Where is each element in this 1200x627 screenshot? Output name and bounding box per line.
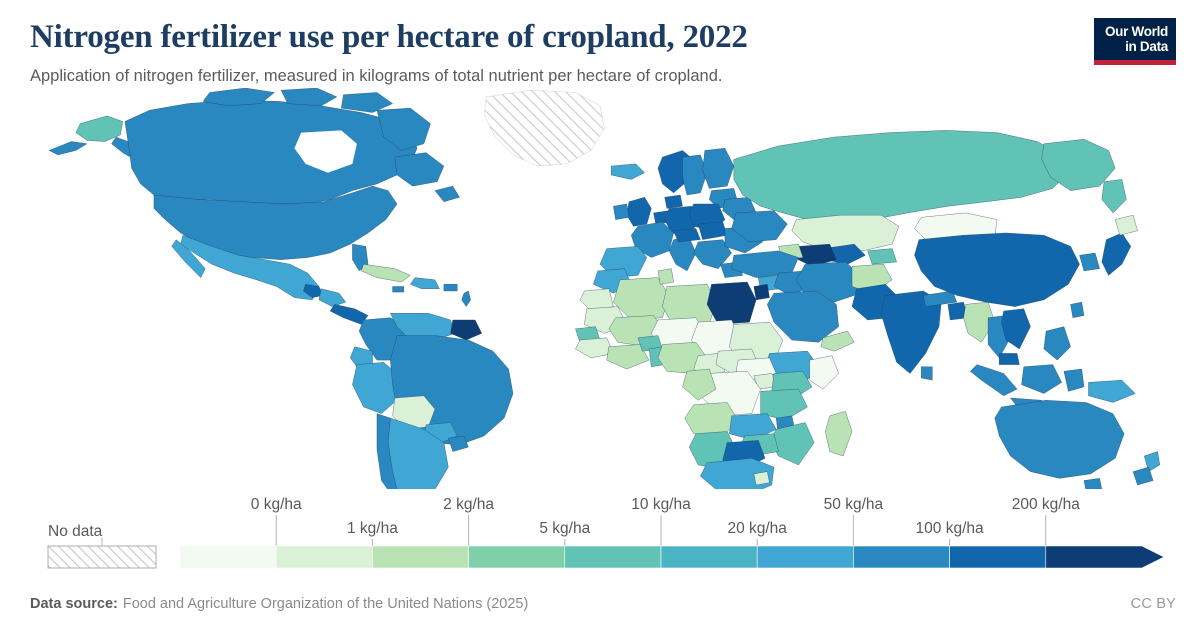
chart-header: Nitrogen fertilizer use per hectare of c…: [0, 0, 1200, 88]
legend-bin-4[interactable]: [565, 546, 661, 568]
country-aleutian-chain[interactable]: [49, 141, 87, 154]
country-japan[interactable]: [1102, 233, 1131, 275]
legend-tick-label-3: 5 kg/ha: [539, 520, 590, 537]
country-sri-lanka[interactable]: [921, 366, 932, 379]
legend-tick-label-4: 10 kg/ha: [631, 496, 691, 513]
legend-no-data-label: No data: [48, 523, 103, 540]
legend-tick-label-8: 200 kg/ha: [1012, 496, 1080, 513]
legend-bin-5[interactable]: [661, 546, 757, 568]
country-korea[interactable]: [1080, 253, 1100, 271]
country-hokkaido[interactable]: [1115, 215, 1137, 235]
country-russia[interactable]: [734, 130, 1069, 221]
country-lesotho[interactable]: [754, 471, 770, 484]
legend-tick-label-2: 2 kg/ha: [443, 496, 494, 513]
country-sweden[interactable]: [683, 154, 708, 194]
legend-tick-label-6: 50 kg/ha: [824, 496, 884, 513]
country-czechia-slovakia-hungary[interactable]: [698, 221, 727, 239]
legend-svg[interactable]: 0 kg/ha1 kg/ha2 kg/ha5 kg/ha10 kg/ha20 k…: [30, 489, 1176, 581]
country-taiwan[interactable]: [1071, 302, 1084, 318]
country-ireland[interactable]: [613, 204, 629, 220]
page-title: Nitrogen fertilizer use per hectare of c…: [30, 18, 1176, 56]
country-tasmania[interactable]: [1084, 478, 1102, 489]
country-costa-rica-panama[interactable]: [330, 304, 368, 324]
legend-bin-0[interactable]: [180, 546, 276, 568]
owid-logo-line2: in Data: [1102, 40, 1168, 55]
owid-chart-root: Nitrogen fertilizer use per hectare of c…: [0, 0, 1200, 627]
legend-tick-label-5: 20 kg/ha: [727, 520, 787, 537]
country-tunisia[interactable]: [658, 268, 674, 284]
data-source: Data source: Food and Agriculture Organi…: [30, 596, 528, 612]
country-honduras-nicaragua[interactable]: [319, 288, 346, 306]
legend-tick-label-1: 1 kg/ha: [347, 520, 398, 537]
data-source-value: Food and Agriculture Organization of the…: [123, 596, 528, 612]
data-source-label: Data source:: [30, 596, 118, 612]
chart-footer: Data source: Food and Agriculture Organi…: [0, 581, 1200, 627]
country-papua-new-guinea[interactable]: [1088, 380, 1135, 402]
legend-bin-group[interactable]: [180, 546, 1164, 568]
legend-bin-9[interactable]: [1046, 546, 1164, 568]
country-iceland[interactable]: [611, 163, 644, 179]
country-sulawesi[interactable]: [1064, 369, 1084, 391]
country-united-kingdom[interactable]: [627, 197, 652, 226]
country-madagascar[interactable]: [825, 411, 852, 456]
legend-bin-3[interactable]: [469, 546, 565, 568]
license-label[interactable]: CC BY: [1131, 596, 1176, 612]
country-cuba[interactable]: [361, 264, 410, 282]
owid-logo[interactable]: Our World in Data: [1094, 18, 1176, 65]
legend-tick-label-7: 100 kg/ha: [916, 520, 984, 537]
country-italy[interactable]: [669, 237, 696, 270]
country-australia[interactable]: [995, 400, 1124, 478]
legend-bin-1[interactable]: [276, 546, 372, 568]
country-malaysia[interactable]: [999, 353, 1019, 364]
country-canada-arctic-3[interactable]: [341, 92, 392, 112]
country-guyana-suriname[interactable]: [451, 319, 482, 339]
country-finland[interactable]: [703, 148, 734, 188]
world-map[interactable]: [0, 88, 1200, 489]
map-legend[interactable]: 0 kg/ha1 kg/ha2 kg/ha5 kg/ha10 kg/ha20 k…: [0, 489, 1200, 581]
country-somalia[interactable]: [810, 355, 839, 388]
country-philippines[interactable]: [1044, 326, 1071, 359]
country-canada-arctic-2[interactable]: [281, 88, 337, 106]
country-borneo[interactable]: [1022, 364, 1062, 393]
country-indonesia-sumatra[interactable]: [970, 364, 1017, 395]
country-kamchatka[interactable]: [1102, 179, 1127, 212]
country-kyrgyzstan-tajikistan[interactable]: [868, 248, 897, 264]
country-newfoundland[interactable]: [435, 186, 460, 202]
country-denmark[interactable]: [665, 195, 683, 208]
country-israel-jordan[interactable]: [754, 284, 770, 300]
legend-no-data-swatch[interactable]: [48, 546, 156, 568]
map-countries-layer[interactable]: [49, 88, 1160, 489]
country-jamaica[interactable]: [393, 286, 404, 292]
legend-bin-8[interactable]: [950, 546, 1046, 568]
legend-bin-7[interactable]: [853, 546, 949, 568]
legend-tick-label-0: 0 kg/ha: [251, 496, 302, 513]
legend-label-group: 0 kg/ha1 kg/ha2 kg/ha5 kg/ha10 kg/ha20 k…: [251, 496, 1080, 537]
chart-subtitle: Application of nitrogen fertilizer, meas…: [30, 65, 1176, 87]
country-egypt[interactable]: [707, 282, 756, 324]
country-hispaniola[interactable]: [410, 277, 439, 288]
legend-bin-2[interactable]: [372, 546, 468, 568]
country-lesser-antilles[interactable]: [462, 290, 471, 306]
legend-bin-6[interactable]: [757, 546, 853, 568]
country-puerto-rico[interactable]: [444, 284, 457, 291]
country-greenland-no-data[interactable]: [484, 90, 604, 166]
owid-logo-line1: Our World: [1102, 25, 1168, 40]
country-switzerland-austria[interactable]: [674, 228, 701, 241]
world-map-svg[interactable]: [0, 88, 1200, 489]
country-canada-labrador[interactable]: [395, 152, 444, 185]
